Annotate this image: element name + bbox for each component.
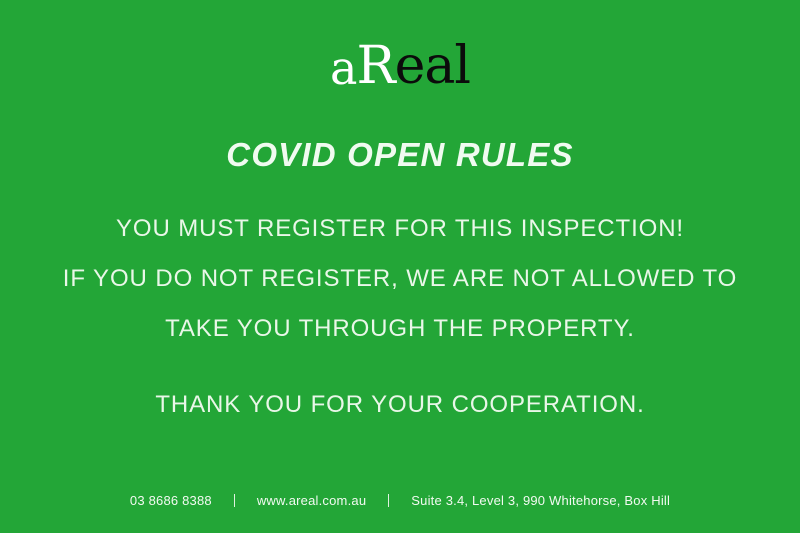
body-line-3: TAKE YOU THROUGH THE PROPERTY. [0, 304, 800, 354]
body-line-1: YOU MUST REGISTER FOR THIS INSPECTION! [0, 204, 800, 254]
page-title: COVID OPEN RULES [226, 136, 573, 174]
footer-separator-icon [388, 494, 389, 507]
footer-contact-bar: 03 8686 8388 www.areal.com.au Suite 3.4,… [0, 493, 800, 508]
body-line-2: IF YOU DO NOT REGISTER, WE ARE NOT ALLOW… [0, 254, 800, 304]
body-copy: YOU MUST REGISTER FOR THIS INSPECTION! I… [0, 204, 800, 430]
footer-address: Suite 3.4, Level 3, 990 Whitehorse, Box … [411, 493, 670, 508]
footer-phone: 03 8686 8388 [130, 493, 212, 508]
logo-letter-r: R [356, 40, 394, 92]
logo-letter-a: a [330, 45, 356, 91]
body-line-4: THANK YOU FOR YOUR COOPERATION. [0, 380, 800, 430]
footer-separator-icon [234, 494, 235, 507]
body-line-spacer [0, 354, 800, 380]
areal-logo: a R eal [330, 40, 470, 102]
footer-website[interactable]: www.areal.com.au [257, 493, 366, 508]
covid-open-rules-poster: a R eal COVID OPEN RULES YOU MUST REGIST… [0, 0, 800, 533]
logo-letters-eal: eal [395, 40, 470, 92]
